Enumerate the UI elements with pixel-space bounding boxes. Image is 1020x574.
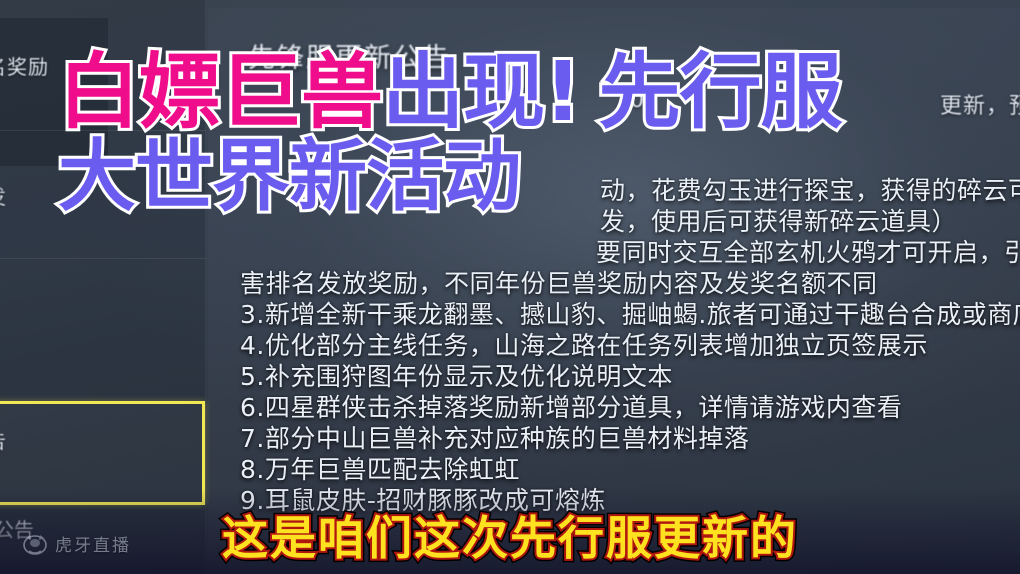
headline-glyph-fill: 巨 bbox=[220, 45, 301, 140]
announcement-line: 4.优化部分主线任务，山海之路在任务列表增加独立页签展示 bbox=[240, 331, 928, 361]
sidebar-item-label: 名奖励 bbox=[0, 38, 49, 96]
headline-glyph: 新 bbox=[289, 138, 366, 216]
headline-glyph-fill: 界 bbox=[212, 132, 289, 222]
headline-glyph: 行 bbox=[680, 52, 761, 134]
announcement-line: 3.新增全新干乘龙翻墨、撼山豹、掘岫蝎.旅者可通过干趣台合成或商店兑 bbox=[240, 300, 1020, 330]
headline-glyph-fill: 活 bbox=[366, 132, 443, 222]
headline-glyph: 活 bbox=[366, 138, 443, 216]
headline-glyph: 巨 bbox=[220, 52, 301, 134]
announcement-line: 5.补充围狩图年份显示及优化说明文本 bbox=[240, 362, 673, 392]
headline-glyph: 先 bbox=[599, 52, 680, 134]
headline-glyph-fill: 服 bbox=[761, 45, 842, 140]
headline-glyph-fill: 现 bbox=[463, 45, 544, 140]
subtitle-text: 这是咱们这次先行服更新的这是咱们这次先行服更新的这是咱们这次先行服更新的 bbox=[222, 502, 798, 568]
headline-glyph-fill: 嫖 bbox=[139, 45, 220, 140]
announcement-line: 7.部分中山巨兽补充对应种族的巨兽材料掉落 bbox=[240, 424, 749, 454]
headline-glyph-fill: 行 bbox=[680, 45, 761, 140]
headline-glyph-fill: 白 bbox=[58, 45, 139, 140]
headline-glyph-fill: 新 bbox=[289, 132, 366, 222]
headline-glyph-fill: 大 bbox=[58, 132, 135, 222]
announcement-line: 要同时交互全部玄机火鸦才可开启，引出的 bbox=[596, 238, 1020, 268]
headline-glyph: 出 bbox=[382, 52, 463, 134]
announcement-line: 害排名发放奖励，不同年份巨兽奖励内容及发奖名额不同 bbox=[240, 269, 878, 299]
headline-glyph: 动 bbox=[443, 138, 520, 216]
headline-glyph-fill: 兽 bbox=[301, 45, 382, 140]
headline-glyph: 白 bbox=[58, 52, 139, 134]
headline-glyph-fill: ! bbox=[544, 45, 580, 140]
sidebar-divider bbox=[0, 258, 206, 259]
headline-glyph: ! bbox=[544, 52, 580, 134]
headline-glyph: 大 bbox=[58, 138, 135, 216]
headline-glyph: 世 bbox=[135, 138, 212, 216]
headline-glyph: 服 bbox=[761, 52, 842, 134]
announcement-line: 6.四星群侠击杀掉落奖励新增部分道具，详情请游戏内查看 bbox=[240, 393, 902, 423]
headline-line-2: 大世界新活动 bbox=[58, 138, 968, 216]
headline-glyph-fill: 出 bbox=[382, 45, 463, 140]
video-frame: 名奖励 发 告 公告 先锋服更新公告 10: 更新，预计 动，花费勾玉进行探宝，… bbox=[0, 0, 1020, 574]
headline-glyph: 兽 bbox=[301, 52, 382, 134]
headline-glyph: 界 bbox=[212, 138, 289, 216]
announcement-line: 8.万年巨兽匹配去除虹虹 bbox=[240, 455, 520, 485]
headline-glyph: 现 bbox=[463, 52, 544, 134]
headline-glyph-fill: 动 bbox=[443, 132, 520, 222]
headline-glyph-fill: 先 bbox=[599, 45, 680, 140]
headline-line-1: 白嫖巨兽出现!先行服 bbox=[58, 52, 968, 134]
subtitle-caption: 这是咱们这次先行服更新的这是咱们这次先行服更新的这是咱们这次先行服更新的 bbox=[0, 502, 1020, 568]
subtitle-text-fill: 这是咱们这次先行服更新的 bbox=[222, 502, 798, 568]
sidebar-item-label: 发 bbox=[0, 168, 7, 226]
headline-glyph: 嫖 bbox=[139, 52, 220, 134]
headline-overlay: 白嫖巨兽出现!先行服 大世界新活动 bbox=[58, 52, 968, 220]
headline-glyph-fill: 世 bbox=[135, 132, 212, 222]
